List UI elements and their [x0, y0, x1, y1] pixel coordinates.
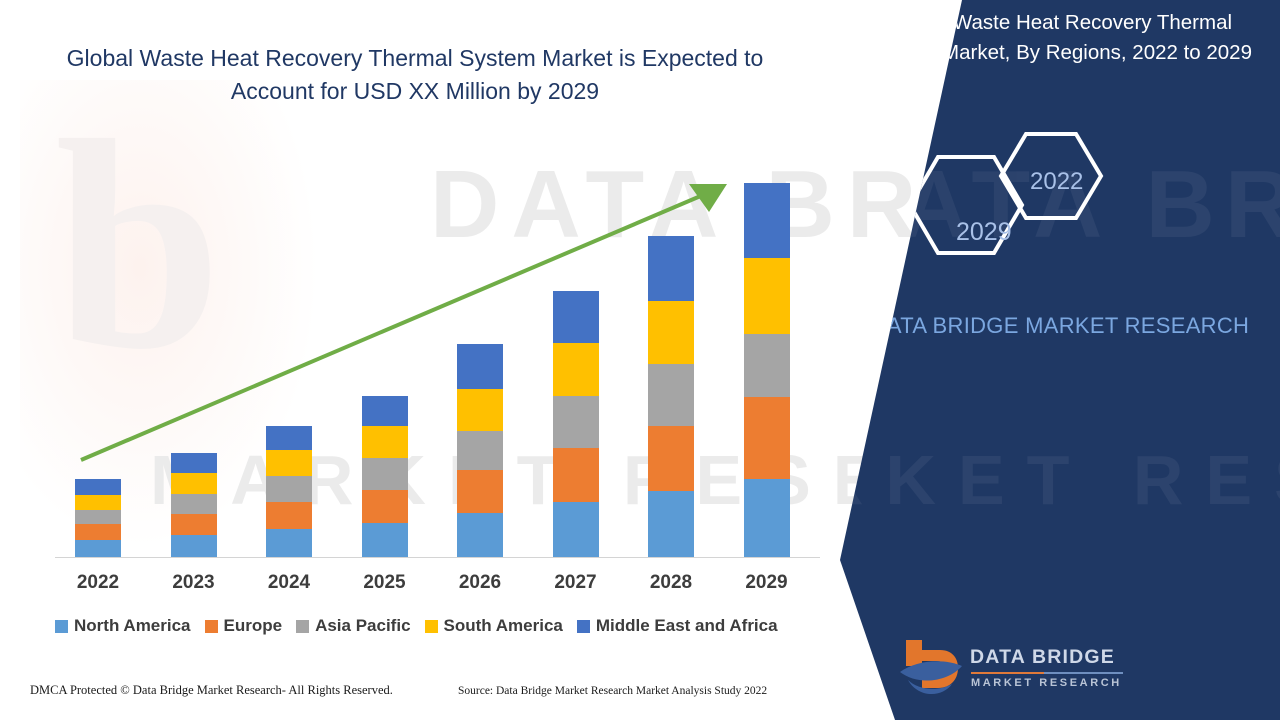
bar-segment[interactable]: [266, 476, 312, 502]
bar-segment[interactable]: [744, 183, 790, 258]
x-axis-label: 2022: [63, 572, 133, 594]
legend-item[interactable]: South America: [425, 616, 563, 636]
legend-swatch: [577, 620, 590, 633]
bar-segment[interactable]: [266, 450, 312, 476]
bar-segment[interactable]: [457, 513, 503, 557]
bar-segment[interactable]: [266, 502, 312, 529]
bar-group[interactable]: [75, 479, 121, 557]
bar-segment[interactable]: [75, 524, 121, 540]
logo-title: DATA BRIDGE: [970, 646, 1115, 669]
page-title: Global Waste Heat Recovery Thermal Syste…: [55, 42, 775, 108]
x-axis-label: 2026: [445, 572, 515, 594]
legend-label: Middle East and Africa: [596, 616, 778, 636]
bar-group[interactable]: [266, 426, 312, 557]
bar-segment[interactable]: [457, 431, 503, 470]
bar-segment[interactable]: [171, 473, 217, 494]
bar-segment[interactable]: [648, 491, 694, 557]
bar-segment[interactable]: [553, 343, 599, 396]
legend-item[interactable]: North America: [55, 616, 191, 636]
logo-subtitle: MARKET RESEARCH: [971, 677, 1122, 689]
bar-segment[interactable]: [553, 291, 599, 343]
right-info-panel: DATA BRIDGE MARKET RESEARCH Global Waste…: [840, 0, 1280, 720]
bar-group[interactable]: [457, 344, 503, 557]
legend-item[interactable]: Middle East and Africa: [577, 616, 778, 636]
x-axis-label: 2024: [254, 572, 324, 594]
legend-swatch: [205, 620, 218, 633]
chart-panel: Global Waste Heat Recovery Thermal Syste…: [0, 0, 900, 720]
bar-segment[interactable]: [362, 523, 408, 557]
bar-segment[interactable]: [457, 344, 503, 389]
x-axis-line: [55, 557, 820, 558]
bar-segment[interactable]: [75, 510, 121, 524]
bar-segment[interactable]: [553, 396, 599, 448]
legend-label: Europe: [224, 616, 283, 636]
bar-segment[interactable]: [457, 389, 503, 431]
legend-label: Asia Pacific: [315, 616, 410, 636]
bar-segment[interactable]: [75, 495, 121, 510]
bar-segment[interactable]: [171, 535, 217, 557]
bar-segment[interactable]: [553, 448, 599, 502]
legend-swatch: [425, 620, 438, 633]
x-axis-label: 2027: [541, 572, 611, 594]
x-axis-label: 2025: [350, 572, 420, 594]
bar-group[interactable]: [744, 183, 790, 557]
footer: DMCA Protected © Data Bridge Market Rese…: [0, 683, 870, 713]
bar-segment[interactable]: [648, 301, 694, 364]
x-axis-labels: 20222023202420252026202720282029: [55, 572, 820, 600]
bar-segment[interactable]: [362, 426, 408, 458]
bar-group[interactable]: [553, 291, 599, 557]
bar-segment[interactable]: [457, 470, 503, 513]
source-note: Source: Data Bridge Market Research Mark…: [458, 685, 767, 697]
legend-label: South America: [444, 616, 563, 636]
hexagon-2022-label: 2022: [1030, 168, 1083, 196]
bar-segment[interactable]: [648, 236, 694, 301]
x-axis-label: 2029: [732, 572, 802, 594]
bar-segment[interactable]: [266, 529, 312, 557]
panel-heading: Global Waste Heat Recovery Thermal Syste…: [860, 8, 1260, 68]
logo-divider: [971, 672, 1123, 674]
bar-segment[interactable]: [171, 494, 217, 514]
bar-segment[interactable]: [744, 479, 790, 557]
bar-segment[interactable]: [362, 490, 408, 523]
bar-segment[interactable]: [362, 396, 408, 426]
hexagon-svg: [870, 130, 1250, 280]
x-axis-label: 2028: [636, 572, 706, 594]
bar-segment[interactable]: [744, 258, 790, 334]
bar-segment[interactable]: [266, 426, 312, 450]
legend-item[interactable]: Europe: [205, 616, 283, 636]
legend-swatch: [55, 620, 68, 633]
bar-group[interactable]: [362, 396, 408, 557]
bar-segment[interactable]: [362, 458, 408, 490]
hexagon-badges: [870, 130, 1250, 280]
logo-mark-icon: [898, 636, 968, 702]
bar-group[interactable]: [648, 236, 694, 557]
chart-legend: North AmericaEuropeAsia PacificSouth Ame…: [55, 616, 845, 636]
bar-segment[interactable]: [744, 397, 790, 479]
panel-watermark: DATA BRIDGE MARKET RESEARCH: [840, 0, 1280, 720]
legend-swatch: [296, 620, 309, 633]
x-axis-label: 2023: [159, 572, 229, 594]
legend-item[interactable]: Asia Pacific: [296, 616, 410, 636]
stacked-bar-chart: [55, 170, 820, 558]
brand-name: DATA BRIDGE MARKET RESEARCH: [850, 310, 1270, 342]
legend-label: North America: [74, 616, 191, 636]
bar-segment[interactable]: [744, 334, 790, 397]
bar-segment[interactable]: [553, 502, 599, 557]
bar-segment[interactable]: [648, 426, 694, 491]
bar-segment[interactable]: [648, 364, 694, 426]
bar-segment[interactable]: [171, 453, 217, 473]
bar-segment[interactable]: [171, 514, 217, 535]
bar-segment[interactable]: [75, 540, 121, 557]
bar-segment[interactable]: [75, 479, 121, 495]
bar-group[interactable]: [171, 453, 217, 557]
dmca-notice: DMCA Protected © Data Bridge Market Rese…: [30, 683, 393, 698]
hexagon-2029-label: 2029: [956, 218, 1012, 247]
company-logo: DATA BRIDGE MARKET RESEARCH: [898, 636, 1128, 706]
